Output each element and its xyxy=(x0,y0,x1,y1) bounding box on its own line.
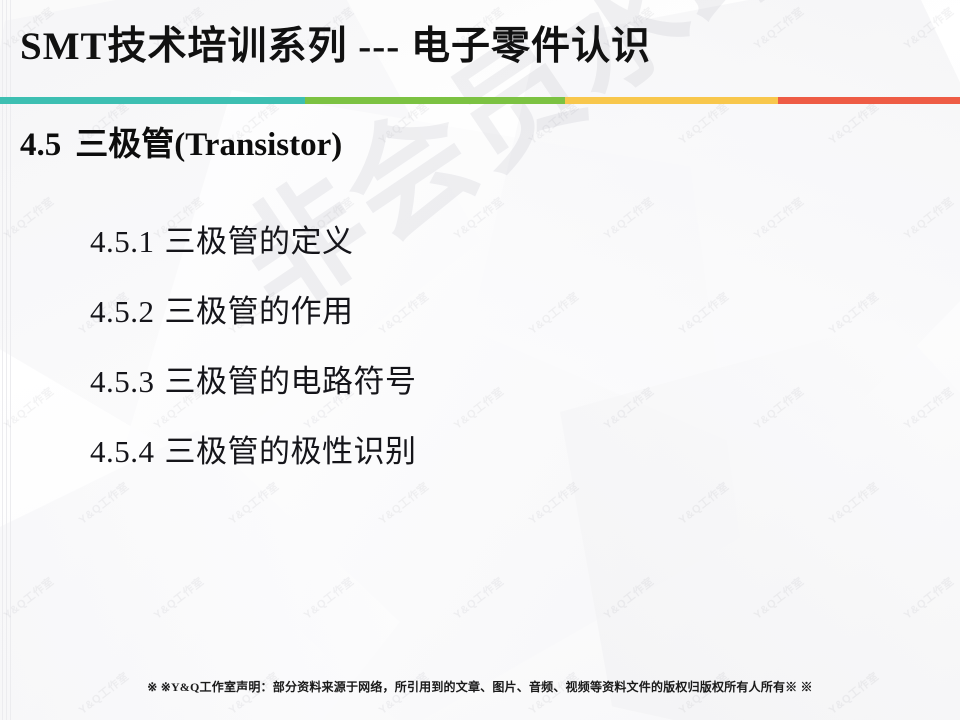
outline-item-label: 三极管的定义 xyxy=(165,224,354,259)
outline-item-label: 三极管的电路符号 xyxy=(165,364,417,399)
left-edge-line-2 xyxy=(6,0,7,720)
divider-segment-yellow xyxy=(565,97,778,104)
watermark-tile: Y&Q工作室 xyxy=(900,193,957,242)
outline-item-label: 三极管的作用 xyxy=(165,294,354,329)
divider-segment-green xyxy=(305,97,565,104)
slide-canvas: Y&Q工作室Y&Q工作室Y&Q工作室Y&Q工作室Y&Q工作室Y&Q工作室Y&Q工… xyxy=(0,0,960,720)
watermark-tile: Y&Q工作室 xyxy=(750,573,807,622)
left-edge-line-3 xyxy=(10,0,11,720)
outline-item-label: 三极管的极性识别 xyxy=(165,434,417,469)
watermark-tile: Y&Q工作室 xyxy=(0,383,57,432)
watermark-tile: Y&Q工作室 xyxy=(675,98,732,147)
outline-list: 4.5.1三极管的定义4.5.2三极管的作用4.5.3三极管的电路符号4.5.4… xyxy=(90,222,850,502)
divider-segment-red xyxy=(778,97,960,104)
left-edge-line-1 xyxy=(2,0,3,720)
watermark-tile: Y&Q工作室 xyxy=(600,573,657,622)
outline-item: 4.5.1三极管的定义 xyxy=(90,222,850,262)
watermark-tile: Y&Q工作室 xyxy=(0,193,57,242)
color-divider-bar xyxy=(0,97,960,104)
divider-segment-teal xyxy=(0,97,305,104)
watermark-tile: Y&Q工作室 xyxy=(825,98,882,147)
watermark-tile: Y&Q工作室 xyxy=(900,573,957,622)
outline-item-number: 4.5.3 xyxy=(90,364,155,399)
page-title: SMT技术培训系列 --- 电子零件认识 xyxy=(20,22,651,72)
outline-item: 4.5.4三极管的极性识别 xyxy=(90,432,850,472)
outline-item: 4.5.2三极管的作用 xyxy=(90,292,850,332)
outline-item-number: 4.5.4 xyxy=(90,434,155,469)
watermark-tile: Y&Q工作室 xyxy=(0,573,57,622)
section-label: 三极管(Transistor) xyxy=(75,127,342,163)
footer-disclaimer: ※ ※Y&Q工作室声明：部分资料来源于网络，所引用到的文章、图片、音频、视频等资… xyxy=(0,678,960,696)
section-heading: 4.5三极管(Transistor) xyxy=(20,124,342,166)
watermark-tile: Y&Q工作室 xyxy=(375,98,432,147)
outline-item: 4.5.3三极管的电路符号 xyxy=(90,362,850,402)
outline-item-number: 4.5.2 xyxy=(90,294,155,329)
slide-header: SMT技术培训系列 --- 电子零件认识 xyxy=(0,0,960,104)
watermark-tile: Y&Q工作室 xyxy=(900,383,957,432)
section-number: 4.5 xyxy=(20,127,61,163)
watermark-tile: Y&Q工作室 xyxy=(525,98,582,147)
watermark-tile: Y&Q工作室 xyxy=(450,573,507,622)
outline-item-number: 4.5.1 xyxy=(90,224,155,259)
watermark-tile: Y&Q工作室 xyxy=(150,573,207,622)
watermark-tile: Y&Q工作室 xyxy=(300,573,357,622)
